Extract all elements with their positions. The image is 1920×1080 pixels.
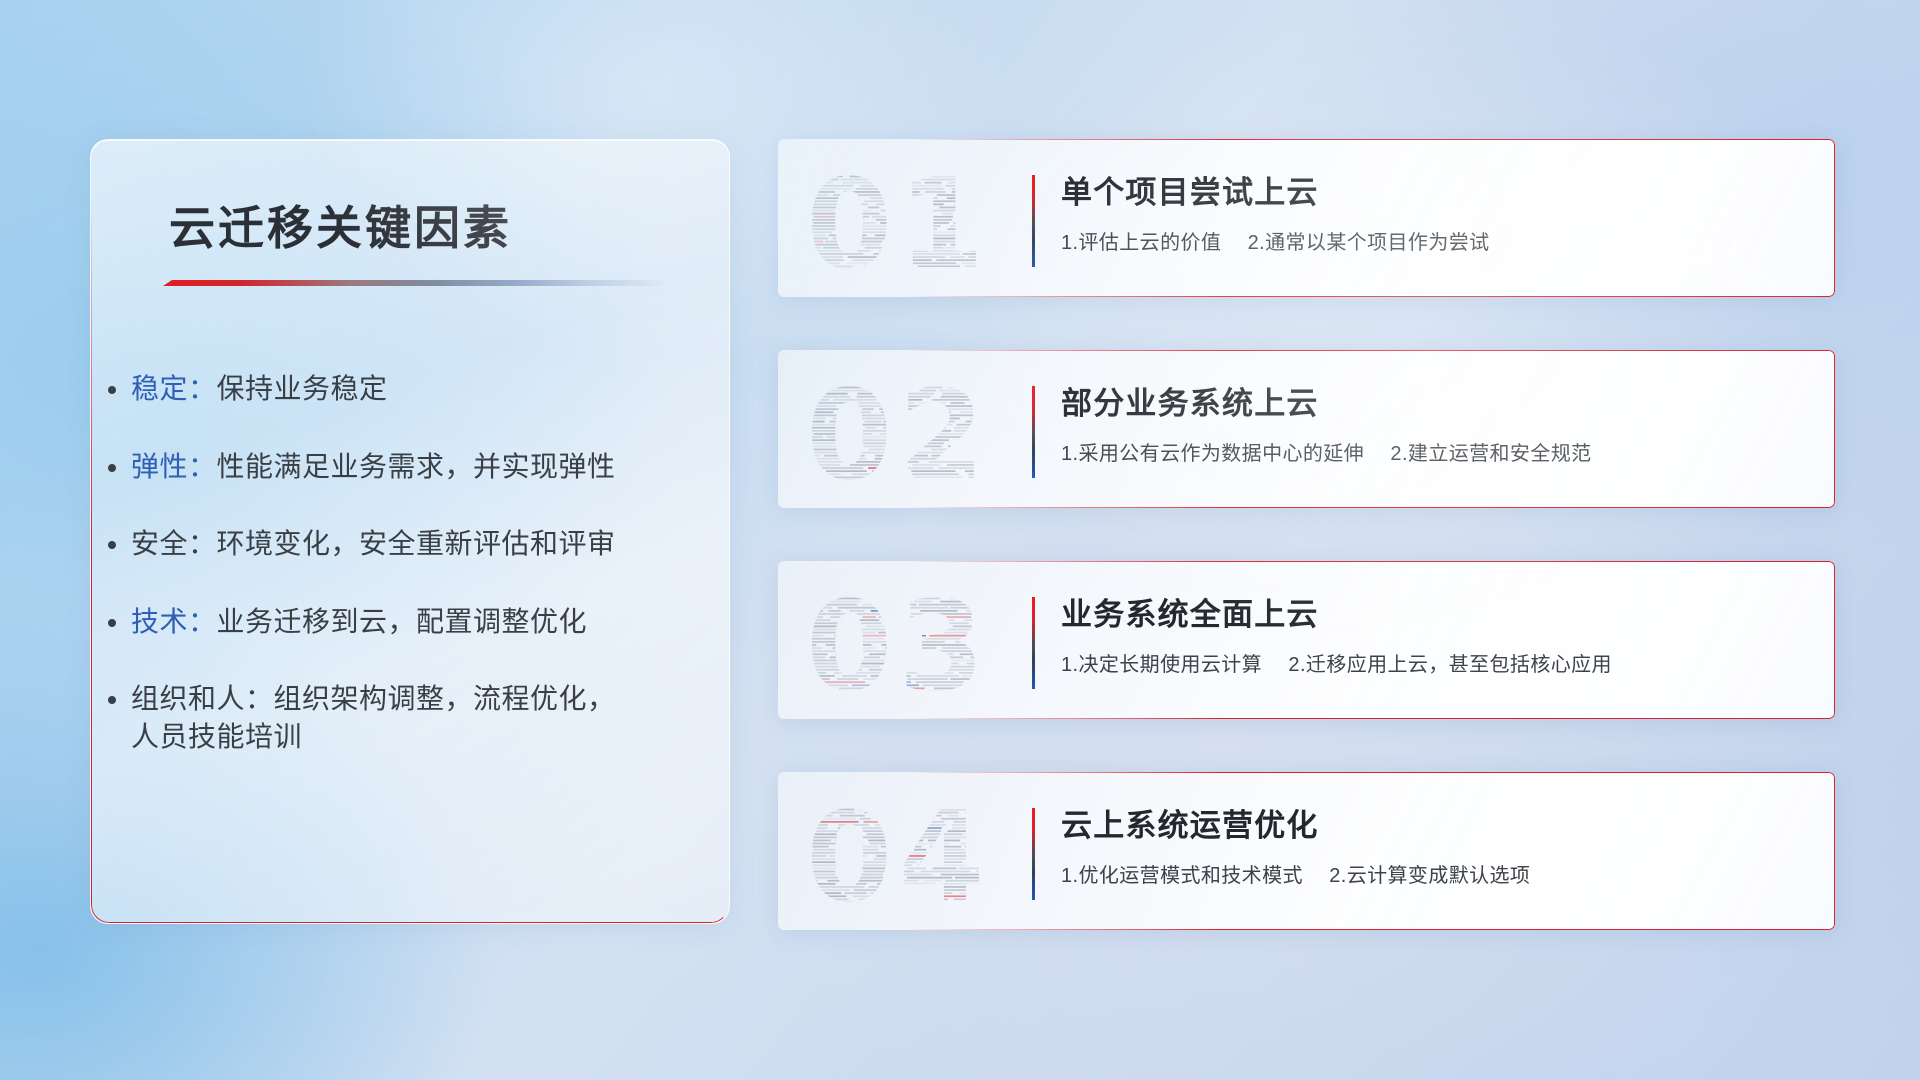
slide-canvas: 云迁移关键因素 稳定：保持业务稳定弹性：性能满足业务需求，并实现弹性安全：环境变… [0, 0, 1920, 1080]
stage-body: 云上系统运营优化1.优化运营模式和技术模式 2.云计算变成默认选项 [1061, 800, 1811, 888]
key-factor-text: 环境变化，安全重新评估和评审 [217, 528, 616, 559]
stage-body: 单个项目尝试上云1.评估上云的价值 2.通常以某个项目作为尝试 [1061, 167, 1811, 255]
stage-number-glitch: 03 [802, 577, 1017, 705]
key-factor-item: 稳定：保持业务稳定 [131, 370, 703, 408]
stage-divider [1032, 597, 1035, 689]
key-factor-item: 安全：环境变化，安全重新评估和评审 [131, 525, 703, 563]
key-factor-label: 弹性： [131, 451, 217, 482]
key-factors-card: 云迁移关键因素 稳定：保持业务稳定弹性：性能满足业务需求，并实现弹性安全：环境变… [90, 139, 730, 924]
key-factors-list: 稳定：保持业务稳定弹性：性能满足业务需求，并实现弹性安全：环境变化，安全重新评估… [131, 370, 703, 755]
stage-body: 部分业务系统上云1.采用公有云作为数据中心的延伸 2.建立运营和安全规范 [1061, 378, 1811, 466]
key-factor-text: 业务迁移到云，配置调整优化 [217, 606, 588, 637]
key-factor-text: 保持业务稳定 [217, 373, 388, 404]
stage-title: 云上系统运营优化 [1061, 800, 1811, 845]
stage-description: 1.采用公有云作为数据中心的延伸 2.建立运营和安全规范 [1061, 437, 1811, 466]
title-underline-rule [163, 280, 663, 286]
stage-number-glitch: 01 [802, 155, 1017, 283]
stage-divider [1032, 808, 1035, 900]
stage-body: 业务系统全面上云1.决定长期使用云计算 2.迁移应用上云，甚至包括核心应用 [1061, 589, 1811, 677]
key-factor-label: 稳定： [131, 373, 217, 404]
key-factor-label: 技术： [131, 606, 217, 637]
stage-divider [1032, 175, 1035, 267]
key-factor-text: 性能满足业务需求，并实现弹性 [217, 451, 616, 482]
stage-description: 1.决定长期使用云计算 2.迁移应用上云，甚至包括核心应用 [1061, 648, 1811, 677]
stage-title: 部分业务系统上云 [1061, 378, 1811, 423]
stage-description: 1.优化运营模式和技术模式 2.云计算变成默认选项 [1061, 859, 1811, 888]
migration-stages-list: 01单个项目尝试上云1.评估上云的价值 2.通常以某个项目作为尝试02部分业务系… [778, 139, 1835, 930]
migration-stage-card[interactable]: 02部分业务系统上云1.采用公有云作为数据中心的延伸 2.建立运营和安全规范 [778, 350, 1835, 508]
stage-description: 1.评估上云的价值 2.通常以某个项目作为尝试 [1061, 226, 1811, 255]
stage-number-glitch: 04 [802, 788, 1017, 916]
key-factor-item: 弹性：性能满足业务需求，并实现弹性 [131, 448, 703, 486]
stage-title: 单个项目尝试上云 [1061, 167, 1811, 212]
migration-stage-card[interactable]: 01单个项目尝试上云1.评估上云的价值 2.通常以某个项目作为尝试 [778, 139, 1835, 297]
page-title: 云迁移关键因素 [169, 192, 512, 258]
migration-stage-card[interactable]: 03业务系统全面上云1.决定长期使用云计算 2.迁移应用上云，甚至包括核心应用 [778, 561, 1835, 719]
key-factor-label: 安全： [131, 528, 217, 559]
key-factor-label: 组织和人： [131, 683, 274, 714]
stage-number-glitch: 02 [802, 366, 1017, 494]
key-factor-item: 组织和人：组织架构调整，流程优化， 人员技能培训 [131, 680, 703, 755]
key-factor-item: 技术：业务迁移到云，配置调整优化 [131, 603, 703, 641]
migration-stage-card[interactable]: 04云上系统运营优化1.优化运营模式和技术模式 2.云计算变成默认选项 [778, 772, 1835, 930]
stage-divider [1032, 386, 1035, 478]
stage-title: 业务系统全面上云 [1061, 589, 1811, 634]
